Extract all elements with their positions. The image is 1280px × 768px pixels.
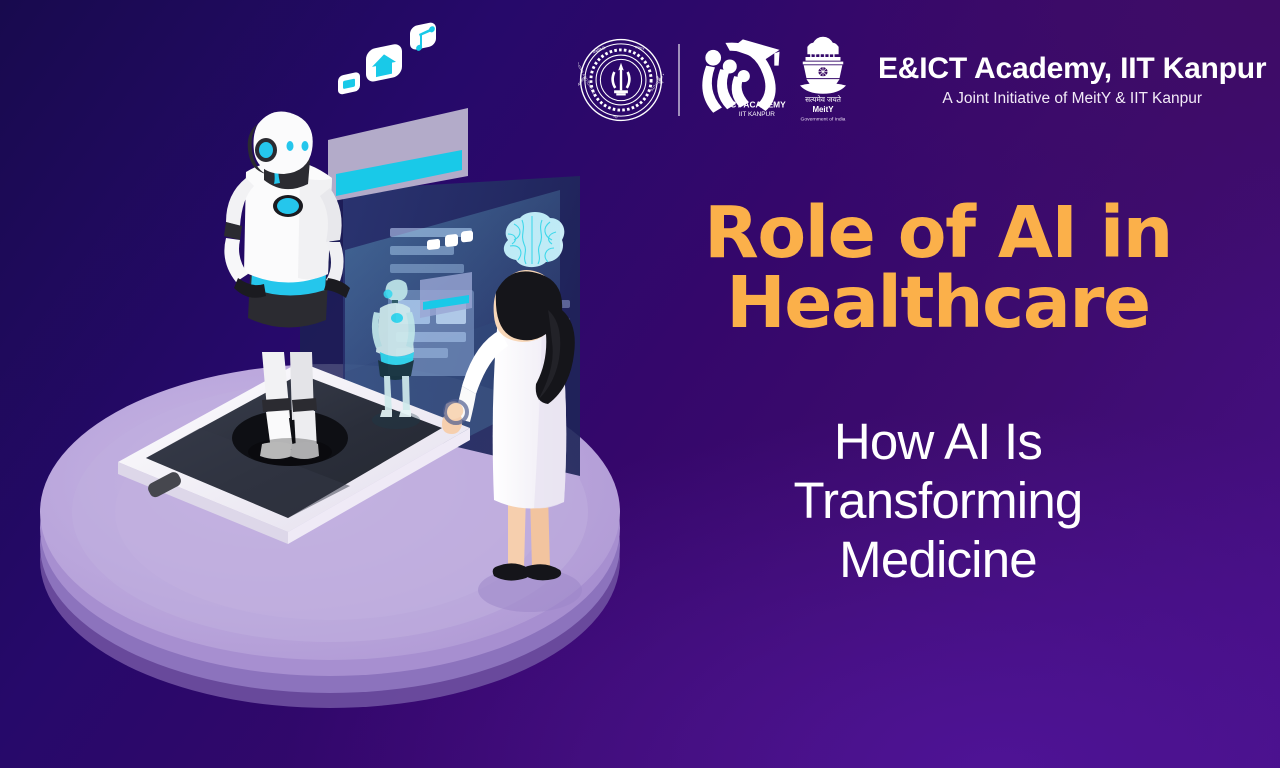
panel-icon-music	[410, 21, 436, 51]
ict-academy-logo: ICT ACADEMY IIT KANPUR	[694, 34, 790, 126]
svg-text:Government of India: Government of India	[801, 116, 846, 122]
subheadline-line-3: Medicine	[672, 530, 1204, 589]
org-title: E&ICT Academy, IIT Kanpur	[878, 52, 1266, 86]
iit-kanpur-seal-logo: भारतीय प्रौद्योगिकी संस्थान कानपुर INDIA…	[578, 37, 664, 123]
poster-canvas: भारतीय प्रौद्योगिकी संस्थान कानपुर INDIA…	[0, 0, 1280, 768]
meity-emblem-logo: सत्यमेव जयते MeitY Government of India	[790, 34, 856, 126]
panel-icon-home	[366, 43, 402, 84]
brand-text-block: E&ICT Academy, IIT Kanpur A Joint Initia…	[878, 52, 1266, 108]
svg-text:OF: OF	[612, 114, 618, 119]
svg-text:ICT ACADEMY: ICT ACADEMY	[728, 99, 786, 109]
svg-text:सत्यमेव जयते: सत्यमेव जयते	[805, 95, 842, 104]
svg-text:IIT KANPUR: IIT KANPUR	[739, 111, 775, 118]
headline-line-2: Healthcare	[672, 268, 1204, 338]
brand-header: भारतीय प्रौद्योगिकी संस्थान कानपुर INDIA…	[578, 34, 1266, 126]
floating-ui-panel	[328, 21, 468, 206]
header-divider	[678, 44, 680, 116]
org-subtitle: A Joint Initiative of MeitY & IIT Kanpur	[878, 90, 1266, 108]
panel-icon-mail	[338, 71, 360, 95]
subheadline-line-2: Transforming	[672, 471, 1204, 530]
headline-block: Role of AI in Healthcare	[672, 198, 1204, 337]
subheadline-block: How AI Is Transforming Medicine	[672, 412, 1204, 589]
svg-text:MeitY: MeitY	[812, 105, 834, 114]
headline-line-1: Role of AI in	[672, 198, 1204, 268]
subheadline-line-1: How AI Is	[672, 412, 1204, 471]
